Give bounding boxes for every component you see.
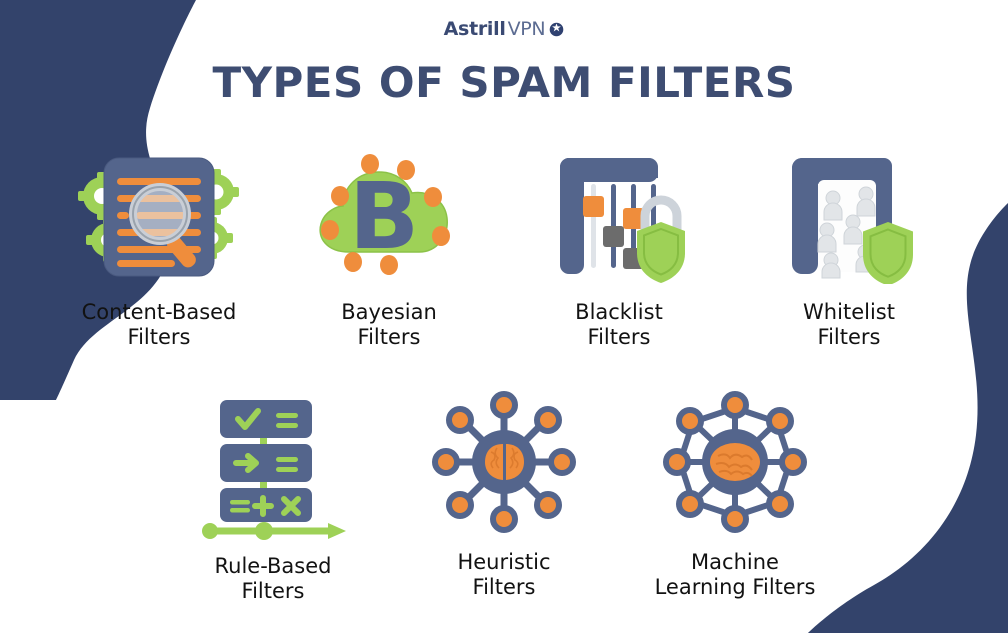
document-magnifier-gears-icon <box>70 146 248 286</box>
filter-card-label: Whitelist Filters <box>803 300 895 350</box>
filter-card-label: Rule-Based Filters <box>214 554 331 604</box>
filter-card-machine-learning[interactable]: Machine Learning Filters <box>630 388 840 604</box>
page-title: TYPES OF SPAM FILTERS <box>0 58 1008 107</box>
filter-row-2: Rule-Based Filters <box>168 388 840 604</box>
rule-flow-arrow-icon <box>198 522 348 540</box>
brain-star-network-icon <box>429 388 579 536</box>
infographic-page: Astrill VPN TYPES OF SPAM FILTERS <box>0 0 1008 633</box>
brand-name-light: VPN <box>508 18 546 40</box>
filter-card-blacklist[interactable]: Blacklist Filters <box>504 146 734 350</box>
brain-mesh-network-icon <box>660 388 810 536</box>
filter-card-label: Bayesian Filters <box>341 300 437 350</box>
filter-card-label: Machine Learning Filters <box>655 550 816 600</box>
filter-card-rule-based[interactable]: Rule-Based Filters <box>168 388 378 604</box>
filter-card-label: Content-Based Filters <box>82 300 237 350</box>
filter-row-1: Content-Based Filters B <box>44 146 964 350</box>
filter-card-heuristic[interactable]: Heuristic Filters <box>399 388 609 604</box>
filter-card-whitelist[interactable]: Whitelist Filters <box>734 146 964 350</box>
cloud-letter-b-nodes-icon: B <box>309 146 469 286</box>
sliders-lock-shield-icon <box>544 146 694 286</box>
filter-card-label: Blacklist Filters <box>575 300 663 350</box>
people-frame-shield-icon <box>774 146 924 286</box>
stacked-rules-arrow-icon <box>198 388 348 528</box>
brand-logo: Astrill VPN <box>0 18 1008 40</box>
globe-badge-icon <box>549 22 564 37</box>
filter-card-content-based[interactable]: Content-Based Filters <box>44 146 274 350</box>
brand-name-bold: Astrill <box>444 18 506 40</box>
filter-card-label: Heuristic Filters <box>457 550 550 600</box>
filter-card-bayesian[interactable]: B Bayesian Filters <box>274 146 504 350</box>
